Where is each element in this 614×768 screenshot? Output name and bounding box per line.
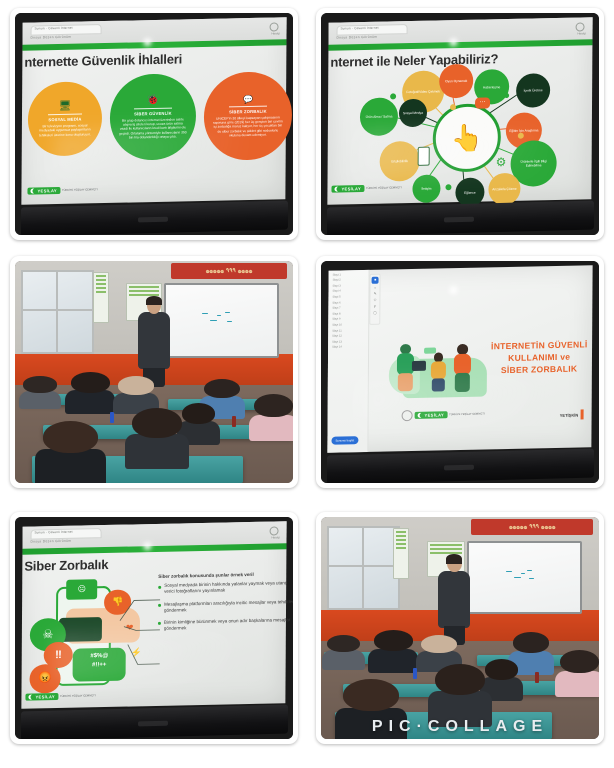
classroom-scene: ๏๏๏๏๏ ٩٩٩ ๏๏๏๏: [321, 517, 599, 739]
select-icon[interactable]: ■: [372, 276, 379, 283]
bullet-item: Birinin kimliğine bürünmek veya onun adı…: [158, 616, 293, 631]
node-label: Sosyal Medya: [403, 111, 423, 115]
student-head: [132, 408, 182, 438]
student-head: [327, 635, 360, 652]
interactive-whiteboard: [467, 541, 582, 614]
projection-board: Sunum - Güvenli İnternet Dosya Düzen Gör…: [321, 13, 599, 235]
collage-panel-6[interactable]: ๏๏๏๏๏ ٩٩٩ ๏๏๏๏: [316, 512, 604, 744]
presenter-hair: [146, 296, 162, 306]
sidebar-row[interactable]: Slayt 14: [332, 345, 364, 349]
student-head: [43, 421, 99, 453]
crescent-icon: [30, 188, 35, 193]
banner-glyphs: ٩٩٩: [529, 523, 539, 530]
student-head: [435, 664, 485, 695]
student-figure: [132, 408, 182, 466]
projection-board: Sunum - Güvenli İnternet Dosya Düzen Gör…: [15, 13, 293, 235]
classroom-window: [21, 270, 95, 354]
collage-panel-5[interactable]: Sunum - Güvenli İnternet Dosya Düzen Gör…: [10, 512, 298, 744]
student-figure: [71, 372, 110, 412]
node-label: Arızalarla Çözme: [492, 187, 516, 192]
bug-icon: 🐞: [147, 95, 160, 105]
projected-screen: Sunum - Güvenli İnternet Dosya Düzen Gör…: [327, 17, 592, 205]
projector-sheen: [359, 127, 544, 178]
banner-glyphs: ๏๏๏๏๏: [206, 266, 224, 276]
banner-glyphs: ٩٩٩: [226, 267, 236, 274]
yesilay-wordmark: YEŞİLAY: [35, 694, 55, 699]
student-head: [513, 632, 549, 653]
sidebar-row[interactable]: Slayt 10: [332, 323, 364, 327]
audience-label: YETİŞKİN: [560, 412, 578, 417]
start-presentation-button[interactable]: Sunumu başlat: [331, 436, 358, 445]
projection-board: Sunum - Güvenli İnternet Dosya Düzen Gör…: [15, 517, 293, 739]
node-label: İletişim: [421, 187, 431, 191]
slide-5-title: Siber Zorbalık: [24, 557, 108, 574]
collage-panel-3[interactable]: ๏๏๏๏๏ ٩٩٩ ๏๏๏๏: [10, 256, 298, 488]
slide-5-bullets: Siber zorbalık konusunda şunlar örnek ve…: [158, 571, 293, 637]
crescent-icon: [28, 694, 33, 699]
title-line-3: SİBER ZORBALIK: [490, 362, 587, 376]
student-body: [368, 649, 418, 673]
projector-sheen: [53, 127, 238, 178]
panel-6-photo: ๏๏๏๏๏ ٩٩٩ ๏๏๏๏: [321, 517, 599, 739]
title-line-1: İNTERNETİN GÜVENLİ: [491, 337, 588, 351]
banner-glyphs: ๏๏๏๏: [541, 522, 556, 532]
sidebar-row[interactable]: Slayt 3: [332, 283, 364, 287]
node-label: Haberleşme: [483, 85, 500, 89]
bullet-text: Birinin kimliğine bürünmek veya onun adı…: [164, 616, 293, 631]
sidebar-row[interactable]: Slayt 8: [332, 311, 364, 315]
yesilay-badge: YEŞİLAY: [27, 187, 60, 195]
yesilay-wordmark: YEŞİLAY: [341, 186, 361, 191]
presenter-figure: [438, 555, 471, 644]
projected-screen: Sunum - Güvenli İnternet Dosya Düzen Gör…: [21, 521, 286, 709]
pen-icon[interactable]: ✎: [374, 291, 377, 295]
bullets-lead: Siber zorbalık konusunda şunlar örnek ve…: [158, 571, 293, 579]
laptop-icon: [411, 361, 425, 371]
board-bottom-bezel: [21, 200, 288, 235]
node-label: İçerik Üretme: [524, 88, 543, 92]
browser-toolbar-row[interactable]: Dosya Düzen Görünüm: [30, 538, 71, 543]
student-head: [254, 394, 293, 417]
panel-3-photo: ๏๏๏๏๏ ٩٩٩ ๏๏๏๏: [15, 261, 293, 483]
bullet-text: Mesajlaşma platformları aracılığıyla inc…: [164, 598, 293, 613]
browser-tab-label: Sunum - Güvenli İnternet: [340, 26, 378, 31]
collage-panel-2[interactable]: Sunum - Güvenli İnternet Dosya Düzen Gör…: [316, 8, 604, 240]
shape-icon[interactable]: ◇: [374, 297, 377, 301]
slide-1-canvas: nternette Güvenlik İhlalleri 🖥 SOSYAL ME…: [21, 45, 286, 204]
node-label: Fotoğraf/Video Çekmek: [406, 89, 439, 94]
account-label: Hesap: [271, 535, 280, 539]
banner-glyphs: ๏๏๏๏๏: [509, 522, 527, 532]
pic-collage-watermark: PIC·COLLAGE: [321, 718, 599, 736]
projector-sheen: [53, 631, 238, 682]
yesilay-meta: TÜRKİYE YEŞİLAY CEMİYETİ: [366, 186, 401, 190]
student-figure: [435, 664, 485, 724]
panel-1-photo: Sunum - Güvenli İnternet Dosya Düzen Gör…: [15, 13, 293, 235]
banner-glyphs: ๏๏๏๏: [238, 266, 253, 276]
sidebar-row[interactable]: Slayt 12: [332, 334, 364, 338]
sidebar-row[interactable]: Slayt 1: [333, 272, 365, 276]
audience-accent-bar: [580, 409, 583, 419]
student-body: [322, 650, 365, 670]
student-body: [555, 671, 599, 698]
student-body: [19, 391, 62, 410]
panel-2-photo: Sunum - Güvenli İnternet Dosya Düzen Gör…: [321, 13, 599, 235]
interactive-whiteboard: [164, 283, 279, 358]
node-label: Oyun Oynamak: [445, 79, 467, 83]
yesilay-wordmark: YEŞİLAY: [37, 188, 57, 193]
sidebar-row[interactable]: Slayt 9: [332, 317, 364, 321]
node-label: Ürün Alma / Satma: [366, 114, 393, 119]
student-figure: [485, 659, 518, 699]
yesilay-badge: YEŞİLAY: [331, 185, 364, 193]
speech-dots-icon: ⋯: [475, 97, 490, 108]
sidebar-row[interactable]: Slayt 5: [332, 295, 364, 299]
student-head: [374, 630, 413, 651]
student-head: [560, 650, 599, 673]
projector-sheen: [359, 375, 544, 426]
student-head: [23, 376, 56, 392]
sidebar-row[interactable]: Slayt 11: [332, 328, 364, 332]
eraser-icon[interactable]: ▢: [373, 310, 376, 314]
collage-panel-1[interactable]: Sunum - Güvenli İnternet Dosya Düzen Gör…: [10, 8, 298, 240]
classroom-window: [327, 526, 401, 610]
crescent-icon: [334, 186, 339, 191]
panel-4-photo: Slayt 1 Slayt 2 Slayt 3 Slayt 4 Slayt 5 …: [321, 261, 599, 483]
student-body: [35, 449, 106, 483]
account-label: Hesap: [271, 31, 280, 35]
browser-tab-label: Sunum - Güvenli İnternet: [34, 26, 72, 31]
projection-board: Slayt 1 Slayt 2 Slayt 3 Slayt 4 Slayt 5 …: [321, 261, 599, 483]
water-bottle: [413, 668, 417, 679]
yesilay-badge: YEŞİLAY: [25, 693, 58, 701]
whiteboard-content: [502, 567, 546, 584]
water-bottle: [232, 416, 236, 427]
student-figure: [254, 394, 293, 438]
bullet-text: Sosyal medyada birinin hakkında yalanlar…: [164, 580, 293, 595]
sidebar-row[interactable]: Slayt 7: [332, 306, 364, 310]
student-figure: [327, 635, 360, 668]
yesilay-logo-lockup: YEŞİLAY TÜRKİYE YEŞİLAY CEMİYETİ: [27, 186, 97, 194]
board-bottom-bezel: [21, 704, 288, 739]
sidebar-row[interactable]: Slayt 13: [332, 339, 364, 343]
student-head: [118, 376, 154, 394]
yesilay-meta: TÜRKİYE YEŞİLAY CEMİYETİ: [62, 188, 97, 192]
bullet-item: Sosyal medyada birinin hakkında yalanlar…: [158, 580, 293, 595]
slide-2-canvas: nternet ile Neler Yapabiliriz?: [327, 45, 592, 204]
browser-toolbar-row[interactable]: Dosya Düzen Görünüm: [30, 34, 71, 39]
sidebar-row[interactable]: Slayt 6: [332, 300, 364, 304]
bullet-item: Mesajlaşma platformları aracılığıyla inc…: [158, 598, 293, 613]
student-figure: [43, 421, 99, 483]
panel-5-photo: Sunum - Güvenli İnternet Dosya Düzen Gör…: [15, 517, 293, 739]
student-head: [71, 372, 110, 393]
board-bottom-bezel: [327, 448, 594, 483]
presenter-figure: [137, 297, 170, 386]
wall-banner: ๏๏๏๏๏ ٩٩٩ ๏๏๏๏: [171, 263, 288, 279]
projected-screen: Sunum - Güvenli İnternet Dosya Düzen Gör…: [21, 17, 286, 205]
water-bottle: [110, 412, 114, 423]
tool-strip[interactable]: ■ ○ ✎ ◇ Ｆ ▢: [369, 273, 381, 325]
student-body: [249, 415, 293, 442]
sidebar-row[interactable]: Slayt 4: [332, 289, 364, 293]
student-figure: [374, 630, 413, 670]
water-bottle: [535, 672, 539, 683]
circle-heading: SOSYAL MEDİA: [48, 113, 81, 122]
browser-toolbar-row[interactable]: Dosya Düzen Görünüm: [336, 34, 377, 39]
presenter-hair: [446, 554, 462, 564]
sad-face-badge-icon: ☹: [66, 579, 97, 599]
student-body: [65, 390, 115, 414]
node-label: Eğlence: [464, 190, 476, 194]
account-label: Hesap: [577, 31, 586, 35]
whiteboard-content: [199, 310, 243, 328]
slide-5-canvas: Siber Zorbalık ☹ 👎 ☠ ‼ 😡 #$%@: [21, 549, 286, 708]
account-circle-icon[interactable]: [270, 526, 279, 535]
student-body: [125, 434, 189, 469]
presenter-torso: [138, 312, 170, 369]
monitor-lock-icon: 🖥: [59, 101, 72, 111]
student-figure: [23, 376, 56, 407]
student-head: [343, 679, 399, 711]
student-head: [204, 379, 240, 399]
alphabet-poster: [393, 528, 409, 579]
collage-panel-4[interactable]: Slayt 1 Slayt 2 Slayt 3 Slayt 4 Slayt 5 …: [316, 256, 604, 488]
wall-banner: ๏๏๏๏๏ ٩٩٩ ๏๏๏๏: [471, 519, 593, 535]
alphabet-poster: [93, 272, 109, 323]
account-circle-icon[interactable]: [576, 22, 585, 31]
presenter-torso: [438, 571, 470, 628]
student-head: [421, 635, 457, 653]
yesilay-meta: TÜRKİYE YEŞİLAY CEMİYETİ: [60, 694, 95, 698]
zoom-icon[interactable]: ○: [374, 285, 376, 289]
yesilay-logo-lockup: YEŞİLAY TÜRKİYE YEŞİLAY CEMİYETİ: [331, 184, 401, 192]
account-circle-icon[interactable]: [270, 22, 279, 31]
student-head: [182, 403, 215, 424]
board-bottom-bezel: [327, 200, 594, 235]
browser-tab-label: Sunum - Güvenli İnternet: [34, 530, 72, 535]
student-figure: [560, 650, 599, 694]
yesilay-logo-lockup: YEŞİLAY TÜRKİYE YEŞİLAY CEMİYETİ: [25, 692, 95, 700]
student-head: [485, 659, 518, 680]
slide-4-title: İNTERNETİN GÜVENLİ KULLANIMI ve SİBER ZO…: [490, 337, 587, 376]
slide-1-title: nternette Güvenlik İhlalleri: [24, 51, 182, 69]
classroom-scene: ๏๏๏๏๏ ٩٩٩ ๏๏๏๏: [15, 261, 293, 483]
projected-screen: Slayt 1 Slayt 2 Slayt 3 Slayt 4 Slayt 5 …: [327, 265, 592, 453]
sidebar-row[interactable]: Slayt 2: [332, 278, 364, 282]
text-icon[interactable]: Ｆ: [373, 303, 376, 308]
pic-collage-canvas: Sunum - Güvenli İnternet Dosya Düzen Gör…: [0, 0, 614, 768]
audience-badge: YETİŞKİN: [560, 409, 584, 419]
speech-bubble-hash-icon: 💬: [243, 95, 253, 103]
money-icon: [424, 347, 436, 353]
